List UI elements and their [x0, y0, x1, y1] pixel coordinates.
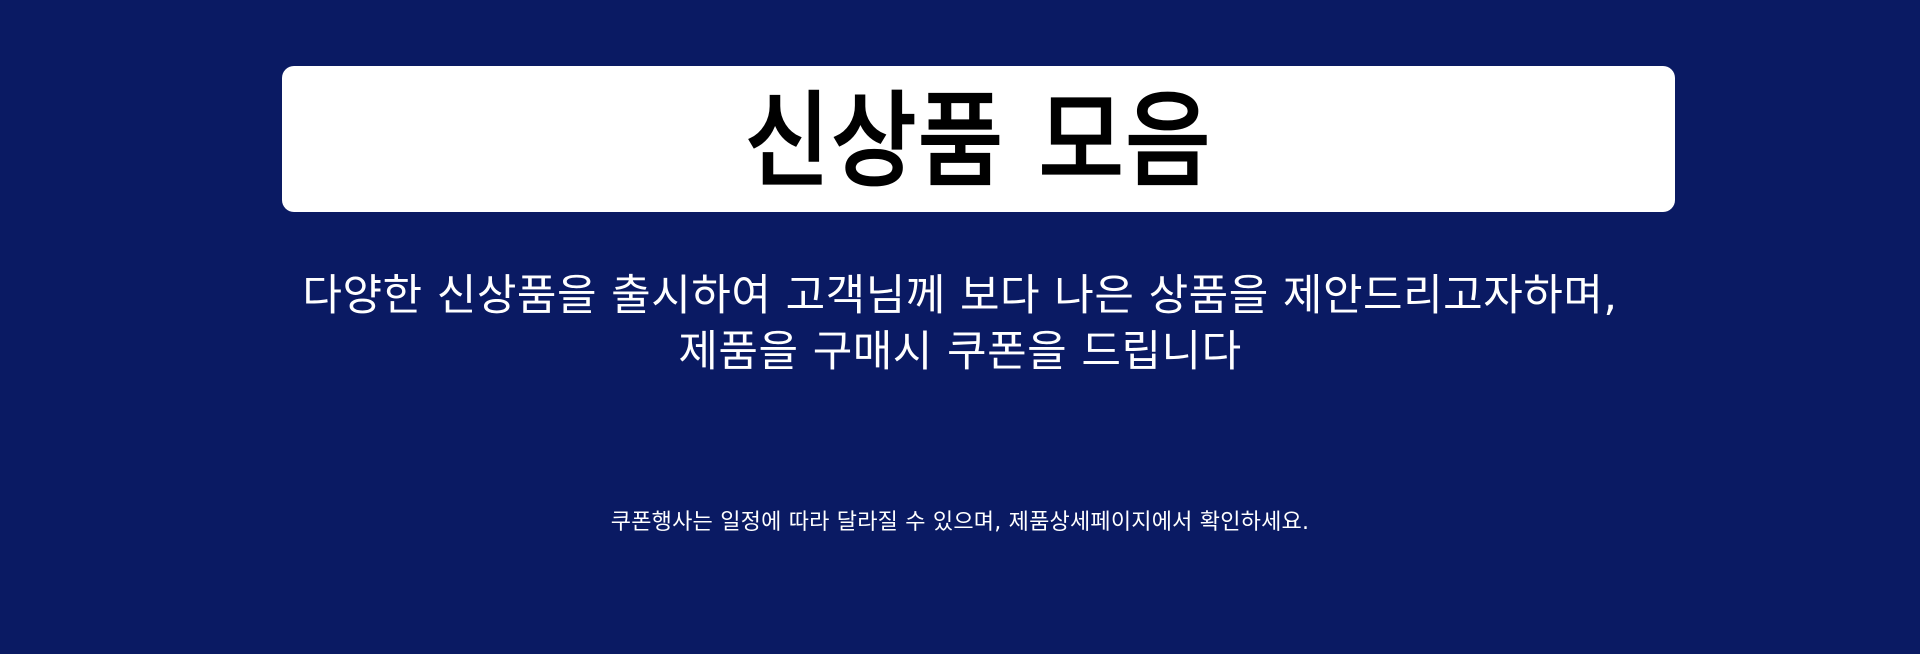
banner-title: 신상품 모음	[745, 90, 1212, 193]
banner-description-line-2: 제품을 구매시 쿠폰을 드립니다	[0, 324, 1920, 380]
title-plate: 신상품 모음	[282, 66, 1675, 212]
banner-footnote: 쿠폰행사는 일정에 따라 달라질 수 있으며, 제품상세페이지에서 확인하세요.	[0, 507, 1920, 539]
banner-description-line-1: 다양한 신상품을 출시하여 고객님께 보다 나은 상품을 제안드리고자하며,	[0, 268, 1920, 324]
promo-banner: 신상품 모음 다양한 신상품을 출시하여 고객님께 보다 나은 상품을 제안드리…	[0, 0, 1920, 654]
banner-description: 다양한 신상품을 출시하여 고객님께 보다 나은 상품을 제안드리고자하며, 제…	[0, 268, 1920, 380]
